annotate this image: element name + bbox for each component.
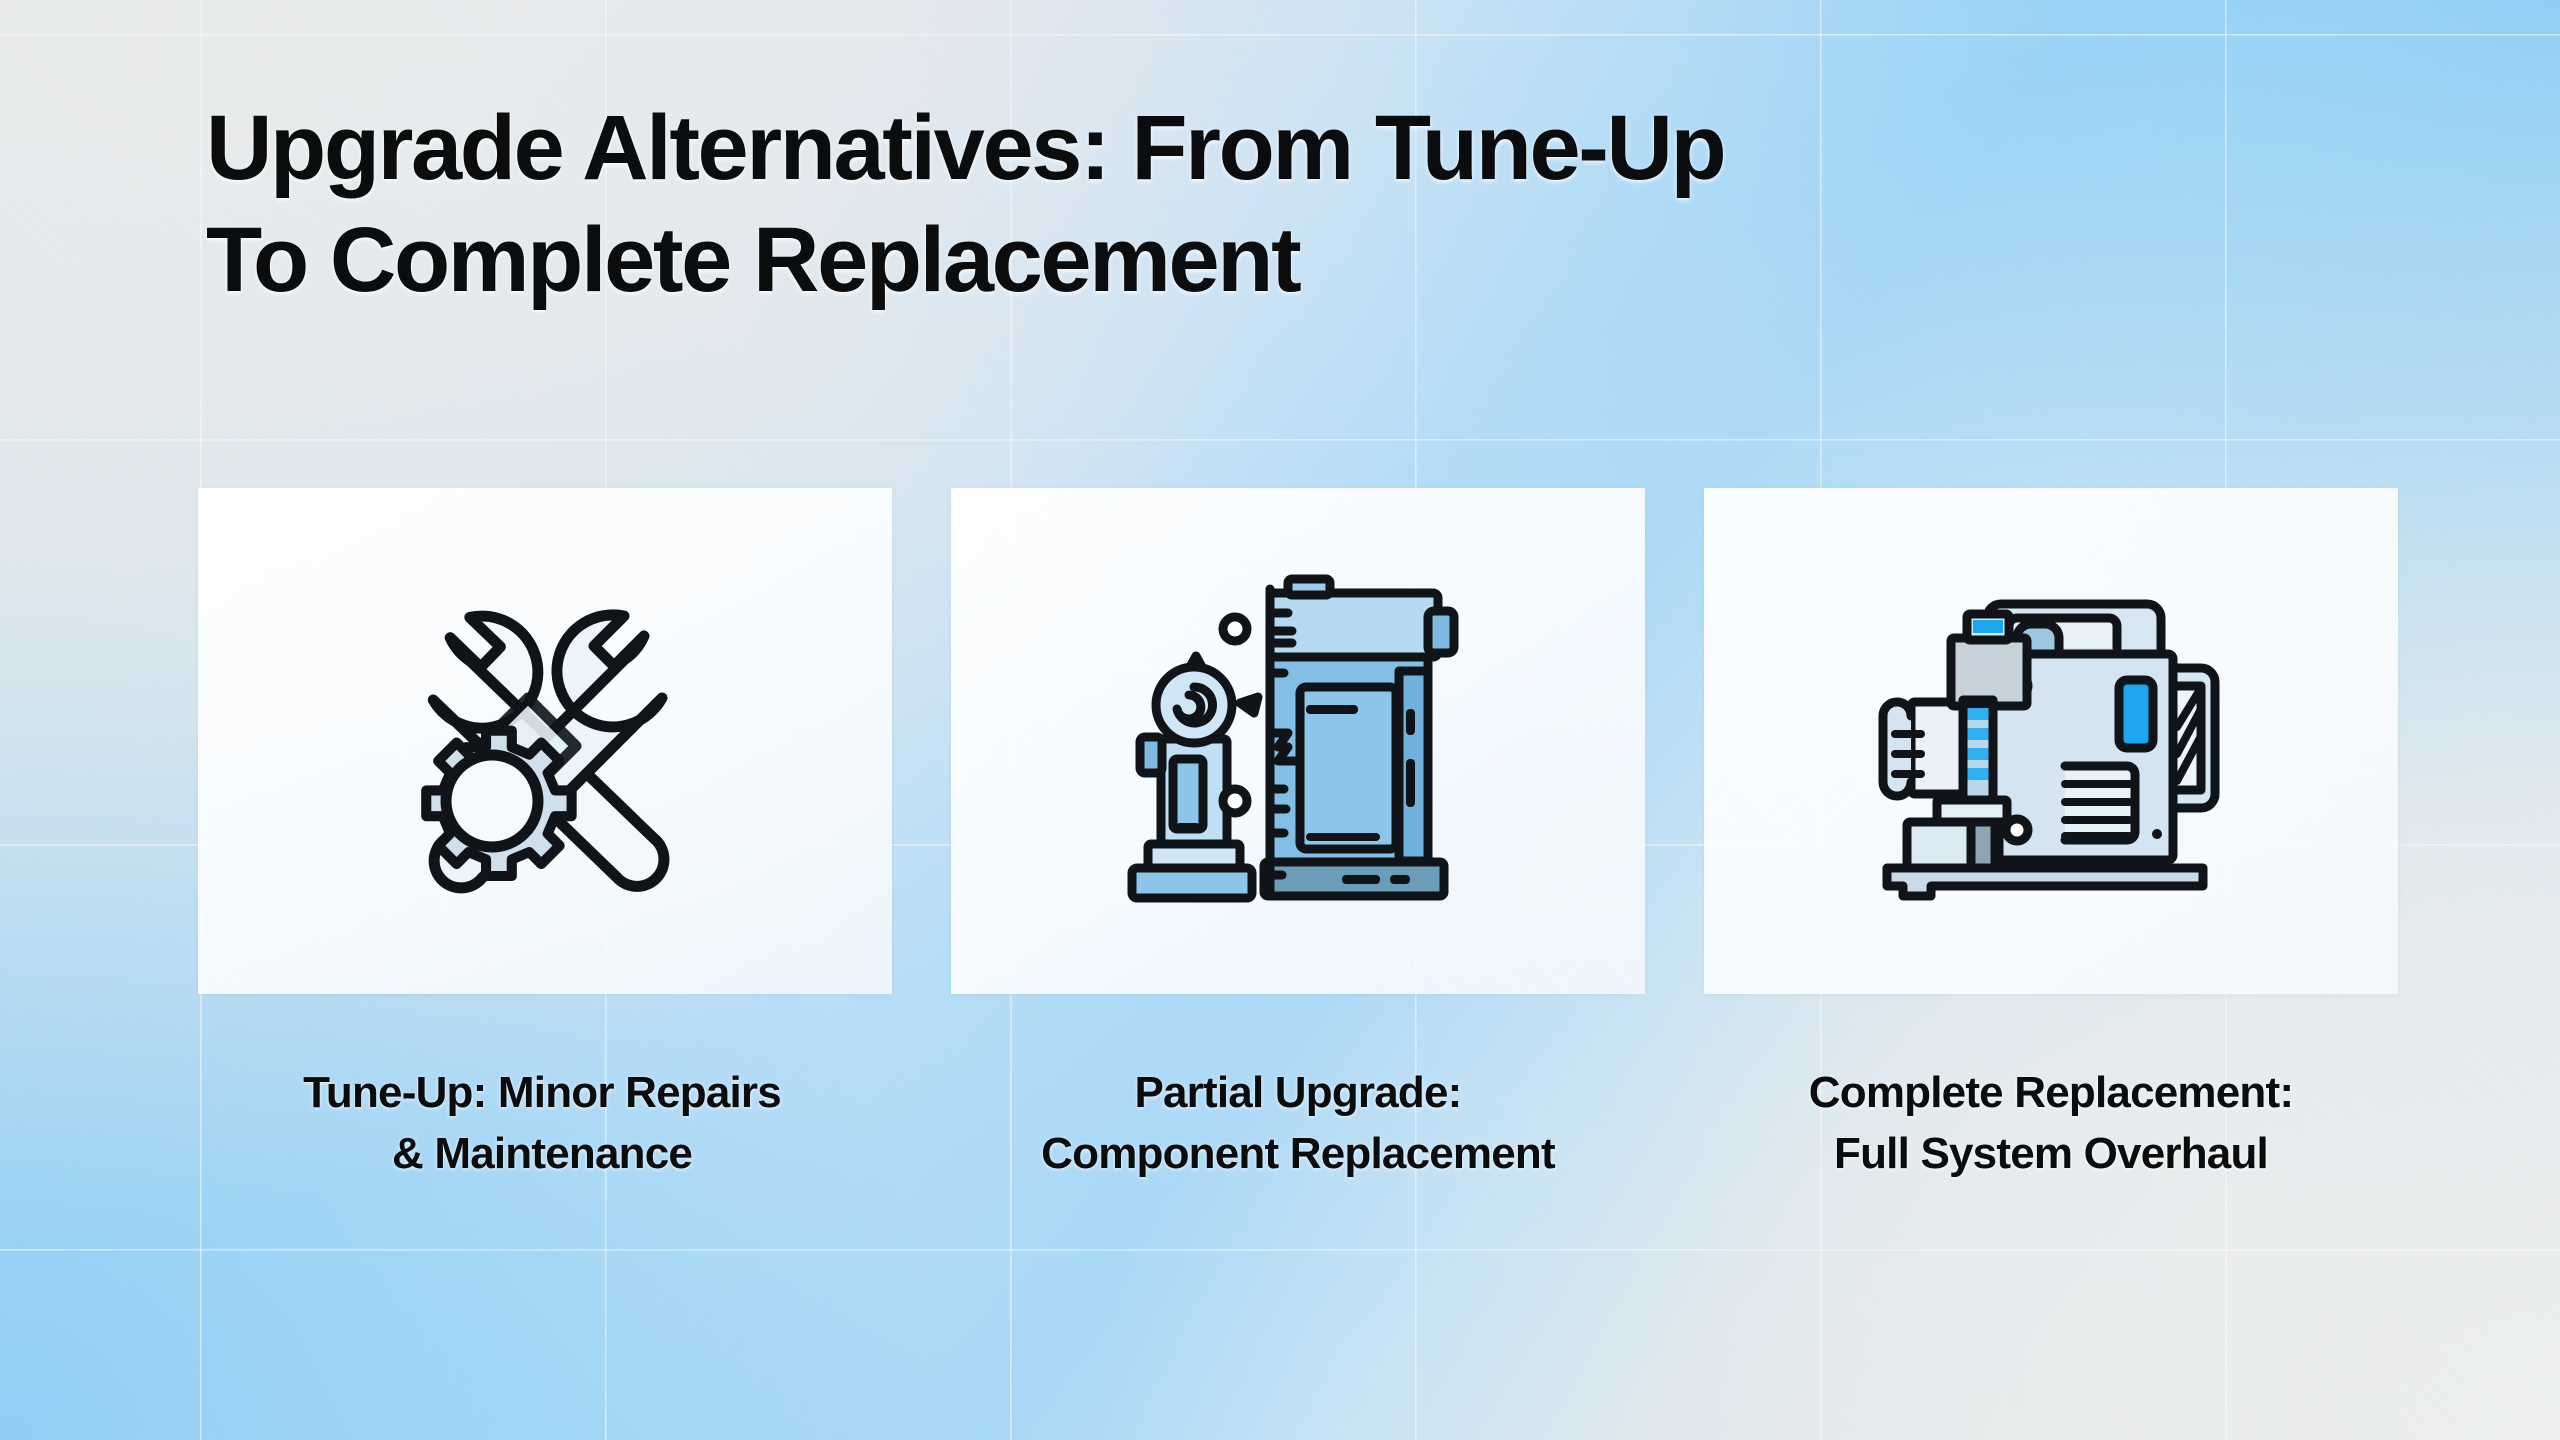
page-title-line-1: Upgrade Alternatives: From Tune-Up xyxy=(206,92,2476,204)
card-caption: Tune-Up: Minor Repairs & Maintenance xyxy=(192,1062,892,1184)
card-image-panel xyxy=(1704,488,2398,994)
wrench-gear-icon xyxy=(380,576,710,906)
card-caption-line-1: Tune-Up: Minor Repairs xyxy=(192,1062,892,1123)
page-title: Upgrade Alternatives: From Tune-Up To Co… xyxy=(206,92,2476,316)
card-caption: Partial Upgrade: Component Replacement xyxy=(951,1062,1645,1184)
generator-unit-icon xyxy=(1851,576,2251,906)
slide-content: Upgrade Alternatives: From Tune-Up To Co… xyxy=(0,0,2560,1440)
card-image-panel xyxy=(951,488,1645,994)
card-caption-line-1: Complete Replacement: xyxy=(1704,1062,2398,1123)
page-title-line-2: To Complete Replacement xyxy=(206,204,2476,316)
option-card-complete-replacement[interactable]: Complete Replacement: Full System Overha… xyxy=(1704,488,2398,1184)
card-caption-line-2: Full System Overhaul xyxy=(1704,1123,2398,1184)
machine-component-icon xyxy=(1118,569,1478,914)
option-card-tune-up[interactable]: Tune-Up: Minor Repairs & Maintenance xyxy=(198,488,892,1184)
card-caption-line-2: Component Replacement xyxy=(951,1123,1645,1184)
card-caption-line-2: & Maintenance xyxy=(192,1123,892,1184)
card-caption: Complete Replacement: Full System Overha… xyxy=(1704,1062,2398,1184)
card-caption-line-1: Partial Upgrade: xyxy=(951,1062,1645,1123)
card-image-panel xyxy=(198,488,892,994)
option-card-partial-upgrade[interactable]: Partial Upgrade: Component Replacement xyxy=(951,488,1645,1184)
option-card-list: Tune-Up: Minor Repairs & Maintenance xyxy=(198,488,2398,1184)
